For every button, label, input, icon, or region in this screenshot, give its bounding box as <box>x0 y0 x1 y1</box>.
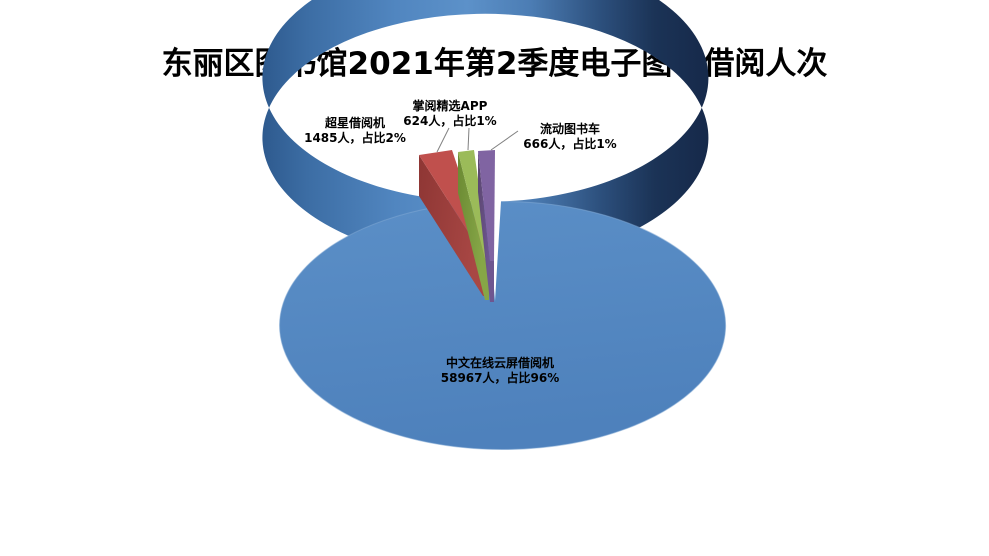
data-label-liudong-name: 流动图书车 <box>480 122 660 137</box>
pie-chart-area[interactable]: 超星借阅机 1485人，占比2% 掌阅精选APP 624人，占比1% 流动图书车… <box>0 0 989 556</box>
pie-chart-graphic[interactable] <box>0 0 989 556</box>
data-label-zhongwen: 中文在线云屏借阅机 58967人，占比96% <box>390 356 610 386</box>
data-label-chaoxing-value: 1485人，占比2% <box>260 131 450 146</box>
data-label-liudong-value: 666人，占比1% <box>480 137 660 152</box>
data-label-zhongwen-value: 58967人，占比96% <box>390 371 610 386</box>
leader-line-zhangyue <box>468 128 469 150</box>
slide-canvas: 东丽区图书馆2021年第2季度电子图书借阅人次 <box>0 0 989 556</box>
data-label-zhangyue-name: 掌阅精选APP <box>360 99 540 114</box>
data-label-zhongwen-name: 中文在线云屏借阅机 <box>390 356 610 371</box>
pie-slice-zhangyue-front <box>490 261 494 302</box>
pie-slice-zhongwen-top <box>280 201 726 449</box>
data-label-liudong: 流动图书车 666人，占比1% <box>480 122 660 152</box>
